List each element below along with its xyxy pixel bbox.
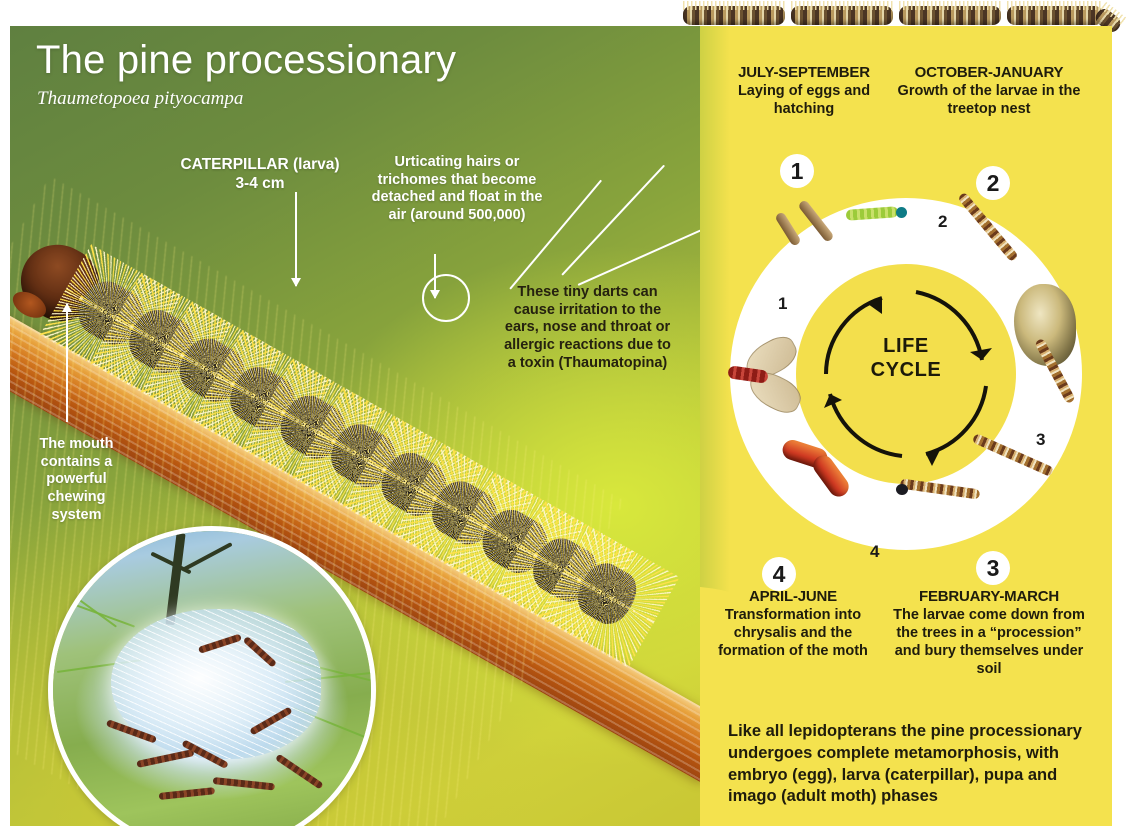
callout-caterpillar-line2: 3-4 cm	[235, 175, 284, 192]
lifecycle-center-line1: LIFE	[883, 335, 929, 357]
stage-label-4: APRIL-JUNE Transformation into chrysalis…	[708, 588, 878, 661]
dart-line	[561, 165, 665, 276]
ring-number-4: 4	[870, 542, 879, 562]
callout-caterpillar: CATERPILLAR (larva) 3-4 cm	[160, 156, 360, 194]
caterpillar-leader-arrow	[295, 192, 297, 286]
metamorphosis-note: Like all lepidopterans the pine processi…	[728, 721, 1088, 808]
stage-1-months: JULY-SEPTEMBER	[714, 64, 894, 83]
callout-mouth: The mouth contains a powerful chewing sy…	[24, 436, 129, 524]
stage-1-description: Laying of eggs and hatching	[714, 83, 894, 119]
stage-label-2: OCTOBER-JANUARY Growth of the larvae in …	[894, 64, 1084, 119]
mouth-leader-arrow	[66, 304, 68, 422]
stage-4-months: APRIL-JUNE	[708, 588, 878, 607]
egg-artwork	[797, 199, 834, 243]
page-subtitle: Thaumetopoea pityocampa	[37, 88, 243, 110]
callout-tiny-darts: These tiny darts can cause irritation to…	[500, 284, 675, 372]
page-title: The pine processionary	[36, 38, 456, 83]
stage-label-3: FEBRUARY-MARCH The larvae come down from…	[886, 588, 1092, 678]
egg-artwork	[774, 211, 802, 247]
stage-badge-1: 1	[780, 154, 814, 188]
stage-badge-3: 3	[976, 551, 1010, 585]
infographic-page: The pine processionary Thaumetopoea pity…	[0, 0, 1126, 834]
lifecycle-center-line2: CYCLE	[871, 359, 942, 381]
nest-inset-photo	[48, 526, 376, 826]
adult-moth-artwork	[734, 346, 810, 412]
callout-urticating-hairs: Urticating hairs or trichomes that becom…	[367, 154, 547, 225]
hatchling-artwork	[846, 206, 899, 221]
photo-panel: The pine processionary Thaumetopoea pity…	[10, 26, 700, 826]
stage-3-months: FEBRUARY-MARCH	[886, 588, 1092, 607]
larva-artwork	[900, 478, 981, 499]
stage-3-description: The larvae come down from the trees in a…	[886, 607, 1092, 679]
stage-badge-4: 4	[762, 557, 796, 591]
stage-4-description: Transformation into chrysalis and the fo…	[708, 607, 878, 661]
ring-number-2: 2	[938, 212, 947, 232]
stage-badge-2: 2	[976, 166, 1010, 200]
trichome-leader-arrow	[434, 254, 436, 298]
ring-number-3: 3	[1036, 430, 1045, 450]
ring-number-1: 1	[778, 294, 787, 314]
stage-2-months: OCTOBER-JANUARY	[894, 64, 1084, 83]
larva-artwork	[957, 192, 1019, 263]
stage-2-description: Growth of the larvae in the treetop nest	[894, 83, 1084, 119]
lifecycle-panel: JULY-SEPTEMBER Laying of eggs and hatchi…	[700, 26, 1112, 826]
lifecycle-ring: LIFE CYCLE	[730, 198, 1082, 550]
callout-caterpillar-line1: CATERPILLAR (larva)	[180, 156, 339, 173]
stage-label-1: JULY-SEPTEMBER Laying of eggs and hatchi…	[714, 64, 894, 119]
